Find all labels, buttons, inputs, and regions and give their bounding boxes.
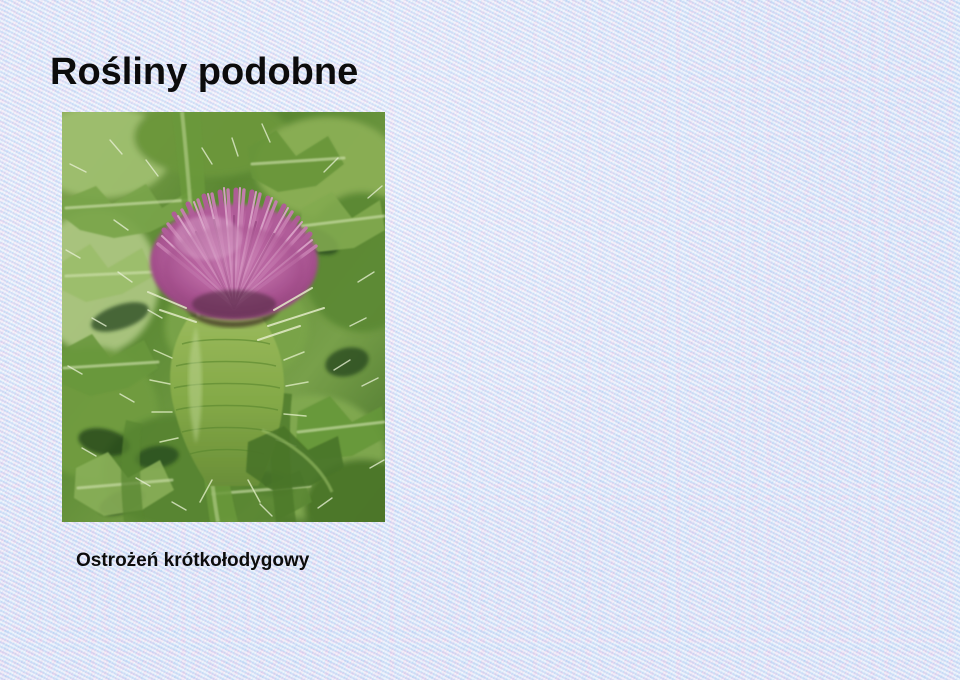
slide: Rośliny podobne	[0, 0, 960, 680]
thistle-photo-image	[62, 112, 385, 522]
page-title: Rośliny podobne	[50, 50, 358, 94]
thistle-photo	[62, 112, 385, 522]
photo-caption: Ostrożeń krótkołodygowy	[76, 549, 309, 573]
